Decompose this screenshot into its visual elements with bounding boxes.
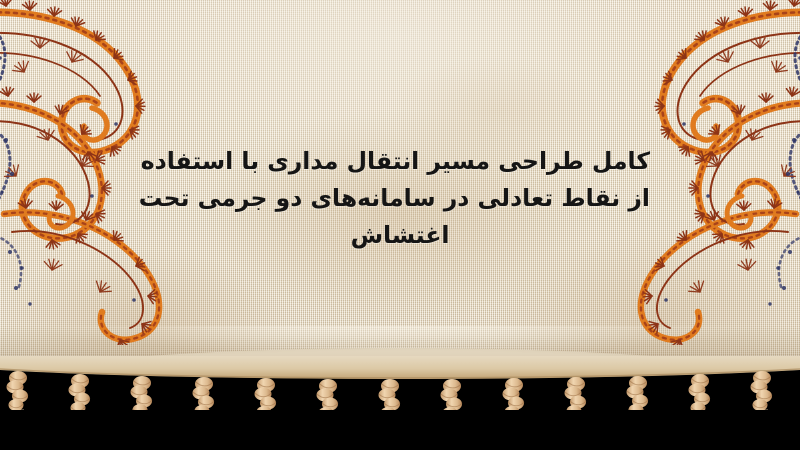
title-line-2: از نقاط تعادلی در سامانه‌های دو جرمی تحت <box>150 180 650 217</box>
title-line-3: اغتشاش <box>150 217 650 254</box>
slide-canvas: کامل طراحی مسیر انتقال مداری با استفاده … <box>0 0 800 450</box>
title-line-1: کامل طراحی مسیر انتقال مداری با استفاده <box>150 143 650 180</box>
slide-title: کامل طراحی مسیر انتقال مداری با استفاده … <box>150 143 650 254</box>
black-backdrop-bottom <box>0 410 800 450</box>
